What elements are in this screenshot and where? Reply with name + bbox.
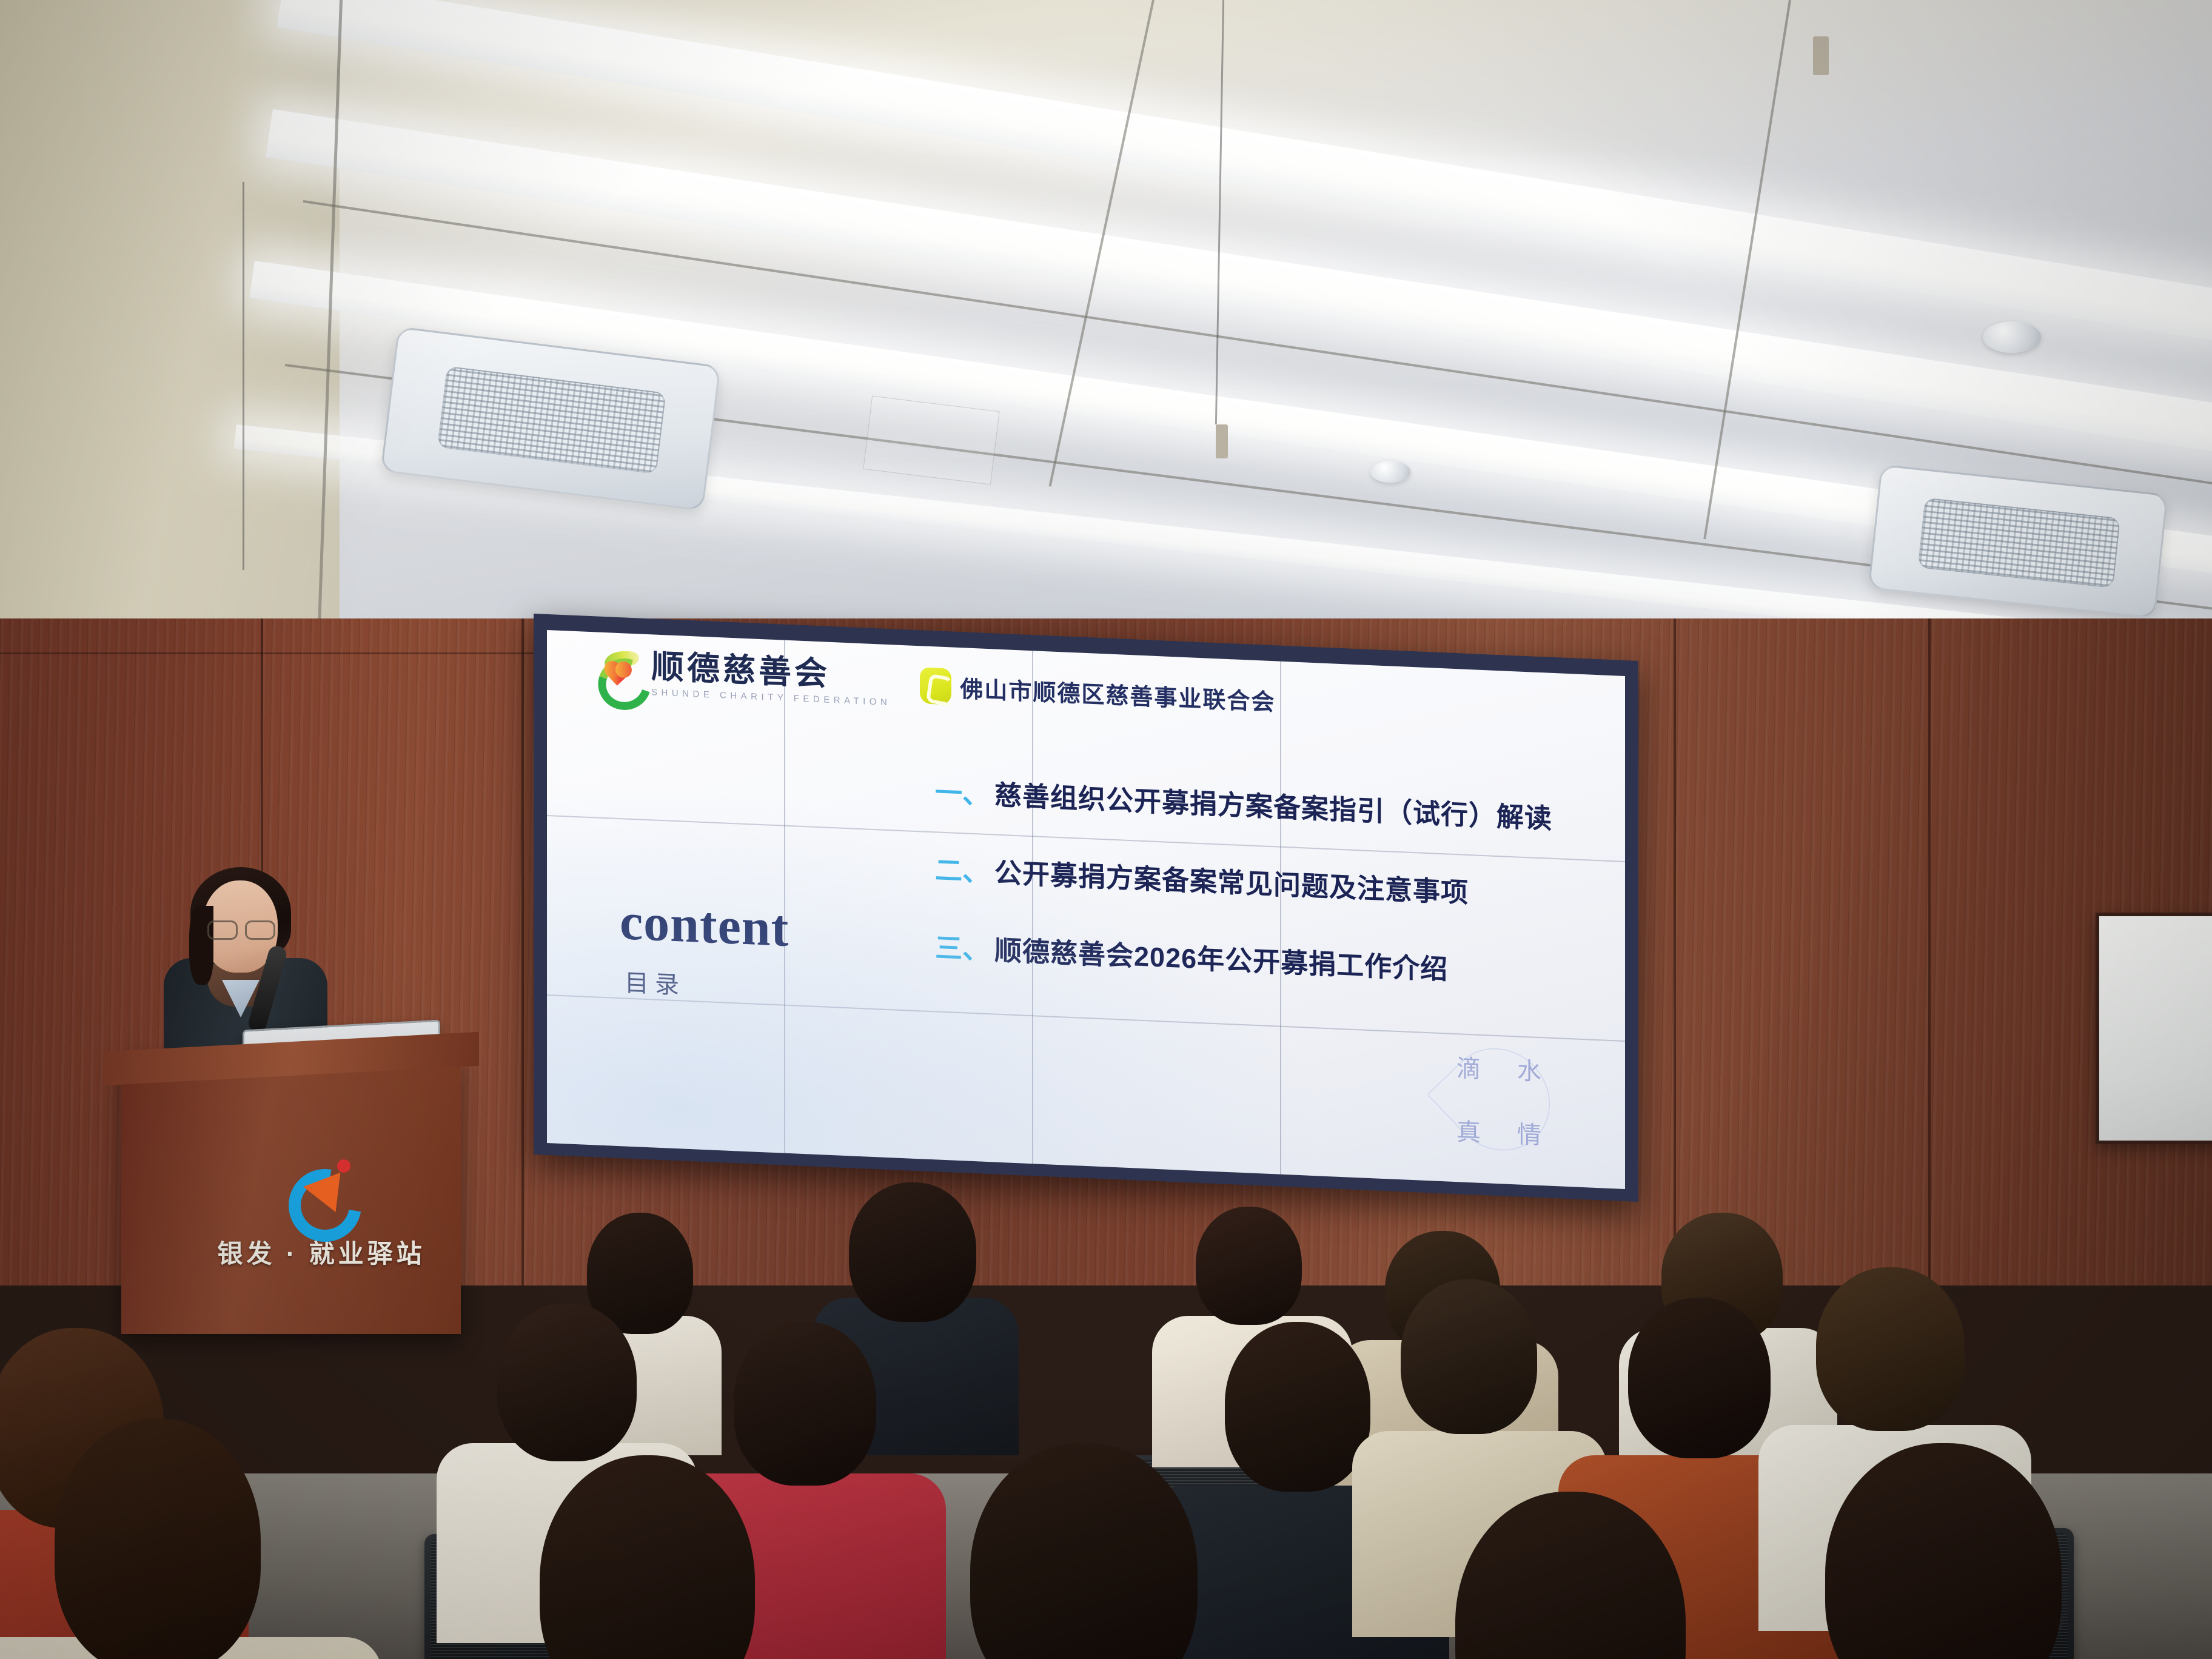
audience-head (849, 1182, 976, 1322)
audience-member (503, 1455, 794, 1659)
agenda-item[interactable]: 三、 顺德慈善会2026年公开募捐工作介绍 (935, 925, 1620, 994)
agenda-number: 一、 (935, 770, 990, 812)
agenda-list: 一、 慈善组织公开募捐方案备案指引（试行）解读 二、 公开募捐方案备案常见问题及… (935, 770, 1620, 1032)
ac-grille-icon (437, 366, 666, 474)
slide-header: 顺德慈善会 SHUNDE CHARITY FEDERATION 佛山市顺德区慈善… (595, 648, 1275, 723)
smoke-detector-icon-2 (1370, 461, 1410, 483)
agenda-text: 慈善组织公开募捐方案备案指引（试行）解读 (994, 773, 1552, 836)
audience-member (934, 1443, 1237, 1659)
audience-member (24, 1419, 309, 1659)
ceiling-hanger-wire (243, 182, 244, 570)
audience-head (1816, 1267, 1965, 1431)
audience-head (1196, 1207, 1302, 1325)
eyeglasses-icon (207, 920, 275, 936)
ceiling (0, 0, 2212, 679)
ac-grille-icon (1918, 498, 2120, 588)
ac-cassette-unit-right (1868, 464, 2168, 619)
conference-room-photo: 顺德慈善会 SHUNDE CHARITY FEDERATION 佛山市顺德区慈善… (0, 0, 2212, 1659)
audience-head (970, 1443, 1198, 1659)
shunde-charity-logo: 顺德慈善会 SHUNDE CHARITY FEDERATION (595, 648, 891, 707)
sprinkler-head-icon-2 (1813, 36, 1829, 75)
slide-title-en: content (620, 895, 789, 954)
audience-head (1825, 1443, 2062, 1659)
org1-name-cn: 顺德慈善会 (651, 650, 891, 693)
audience-member (1783, 1443, 2098, 1659)
agenda-number: 三、 (935, 925, 990, 967)
org2-name-cn: 佛山市顺德区慈善事业联合会 (960, 670, 1275, 717)
ceiling-soffit-left (0, 0, 340, 679)
agenda-text: 公开募捐方案备案常见问题及注意事项 (994, 851, 1469, 910)
agenda-item[interactable]: 二、 公开募捐方案备案常见问题及注意事项 (935, 848, 1620, 916)
wall-horizontal-seam (0, 652, 546, 654)
audience-head (1225, 1322, 1370, 1492)
speaker-hair-side (189, 906, 213, 985)
audience-member (1413, 1492, 1728, 1659)
slide-title-cn: 目录 (625, 963, 789, 1005)
audience-head (540, 1455, 755, 1659)
audience-head (1455, 1492, 1686, 1659)
foshan-federation-logo: 佛山市顺德区慈善事业联合会 (920, 667, 1275, 719)
audience-head (1628, 1298, 1771, 1458)
audience-head (497, 1304, 637, 1461)
audience-seating (0, 1067, 2212, 1659)
ceiling-hanger-wire-2 (1215, 0, 1224, 424)
audience-head (55, 1419, 261, 1659)
agenda-number: 二、 (935, 848, 990, 890)
ceiling-access-panel (863, 396, 999, 485)
sprinkler-head-icon (1216, 424, 1228, 458)
agenda-text: 顺德慈善会2026年公开募捐工作介绍 (994, 928, 1448, 987)
slide-title-block: content 目录 (620, 895, 789, 1005)
yellow-rounded-square-s-logo-icon (920, 667, 951, 705)
audience-head (1401, 1279, 1537, 1434)
agenda-item[interactable]: 一、 慈善组织公开募捐方案备案指引（试行）解读 (935, 770, 1620, 839)
green-swoosh-heart-logo-icon (595, 649, 643, 695)
smoke-detector-icon (1983, 321, 2041, 353)
